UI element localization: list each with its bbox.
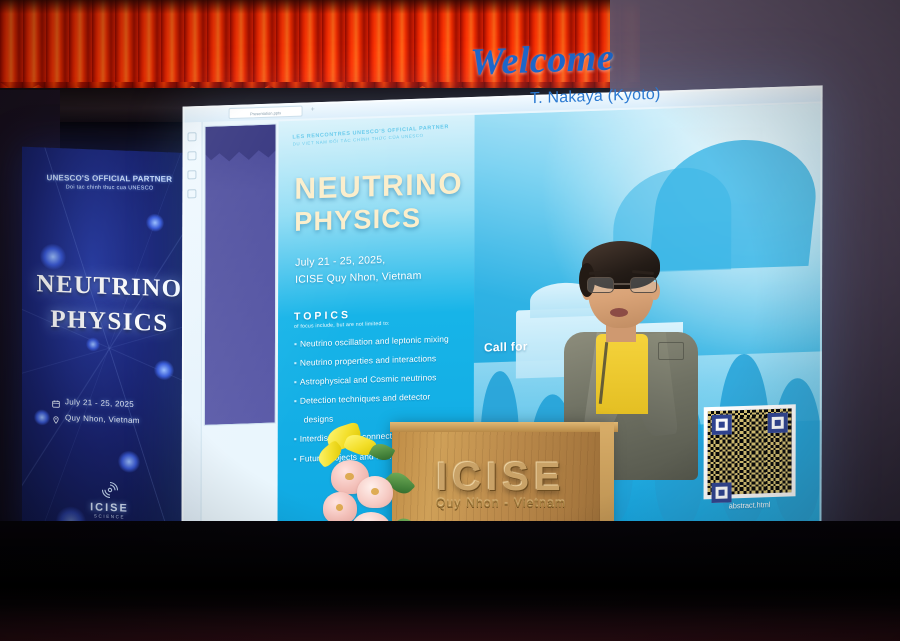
banner-partner-sub: Doi tac chinh thuc cua UNESCO [66,184,154,191]
banner-partner-line: UNESCO'S OFFICIAL PARTNER [46,173,172,184]
floor-light-glow [0,605,900,641]
calendar-icon [52,398,60,406]
banner-node-dot [40,243,66,270]
orchid-petal [357,476,393,508]
welcome-heading-projected: Welcome [470,35,614,84]
banner-node-dot [154,360,174,381]
glasses-bridge [614,283,630,285]
banner-title-line1: NEUTRINO [37,270,183,303]
location-pin-icon [52,414,60,422]
orchid-petal [323,492,357,524]
banner-brand: ICISE SCIENCE [22,477,197,523]
banner-meta: July 21 - 25, 2025 Quy Nhon, Vietnam [52,394,140,429]
icise-logo-icon [100,480,120,501]
curtain-top-shadow [0,0,640,14]
banner-title-line2: PHYSICS [50,305,168,337]
banner-node-dot [34,409,50,426]
glasses-lens [630,277,657,293]
banner-node-dot [118,450,140,473]
glasses-icon [587,277,657,294]
banner-node-dot [146,213,164,232]
banner-title: NEUTRINO PHYSICS [22,267,197,343]
banner-location-text: Quy Nhon, Vietnam [65,410,140,429]
banner-node-dot [86,337,100,352]
jacket-pocket [658,342,684,360]
banner-location-row: Quy Nhon, Vietnam [52,410,140,429]
left-vertical-banner: UNESCO'S OFFICIAL PARTNER Doi tac chinh … [22,147,197,549]
speaker-mouth [610,308,628,317]
conference-photo-scene: UNESCO'S OFFICIAL PARTNER Doi tac chinh … [0,0,900,641]
glasses-lens [587,277,614,293]
banner-unesco-partner: UNESCO'S OFFICIAL PARTNER Doi tac chinh … [22,173,197,193]
